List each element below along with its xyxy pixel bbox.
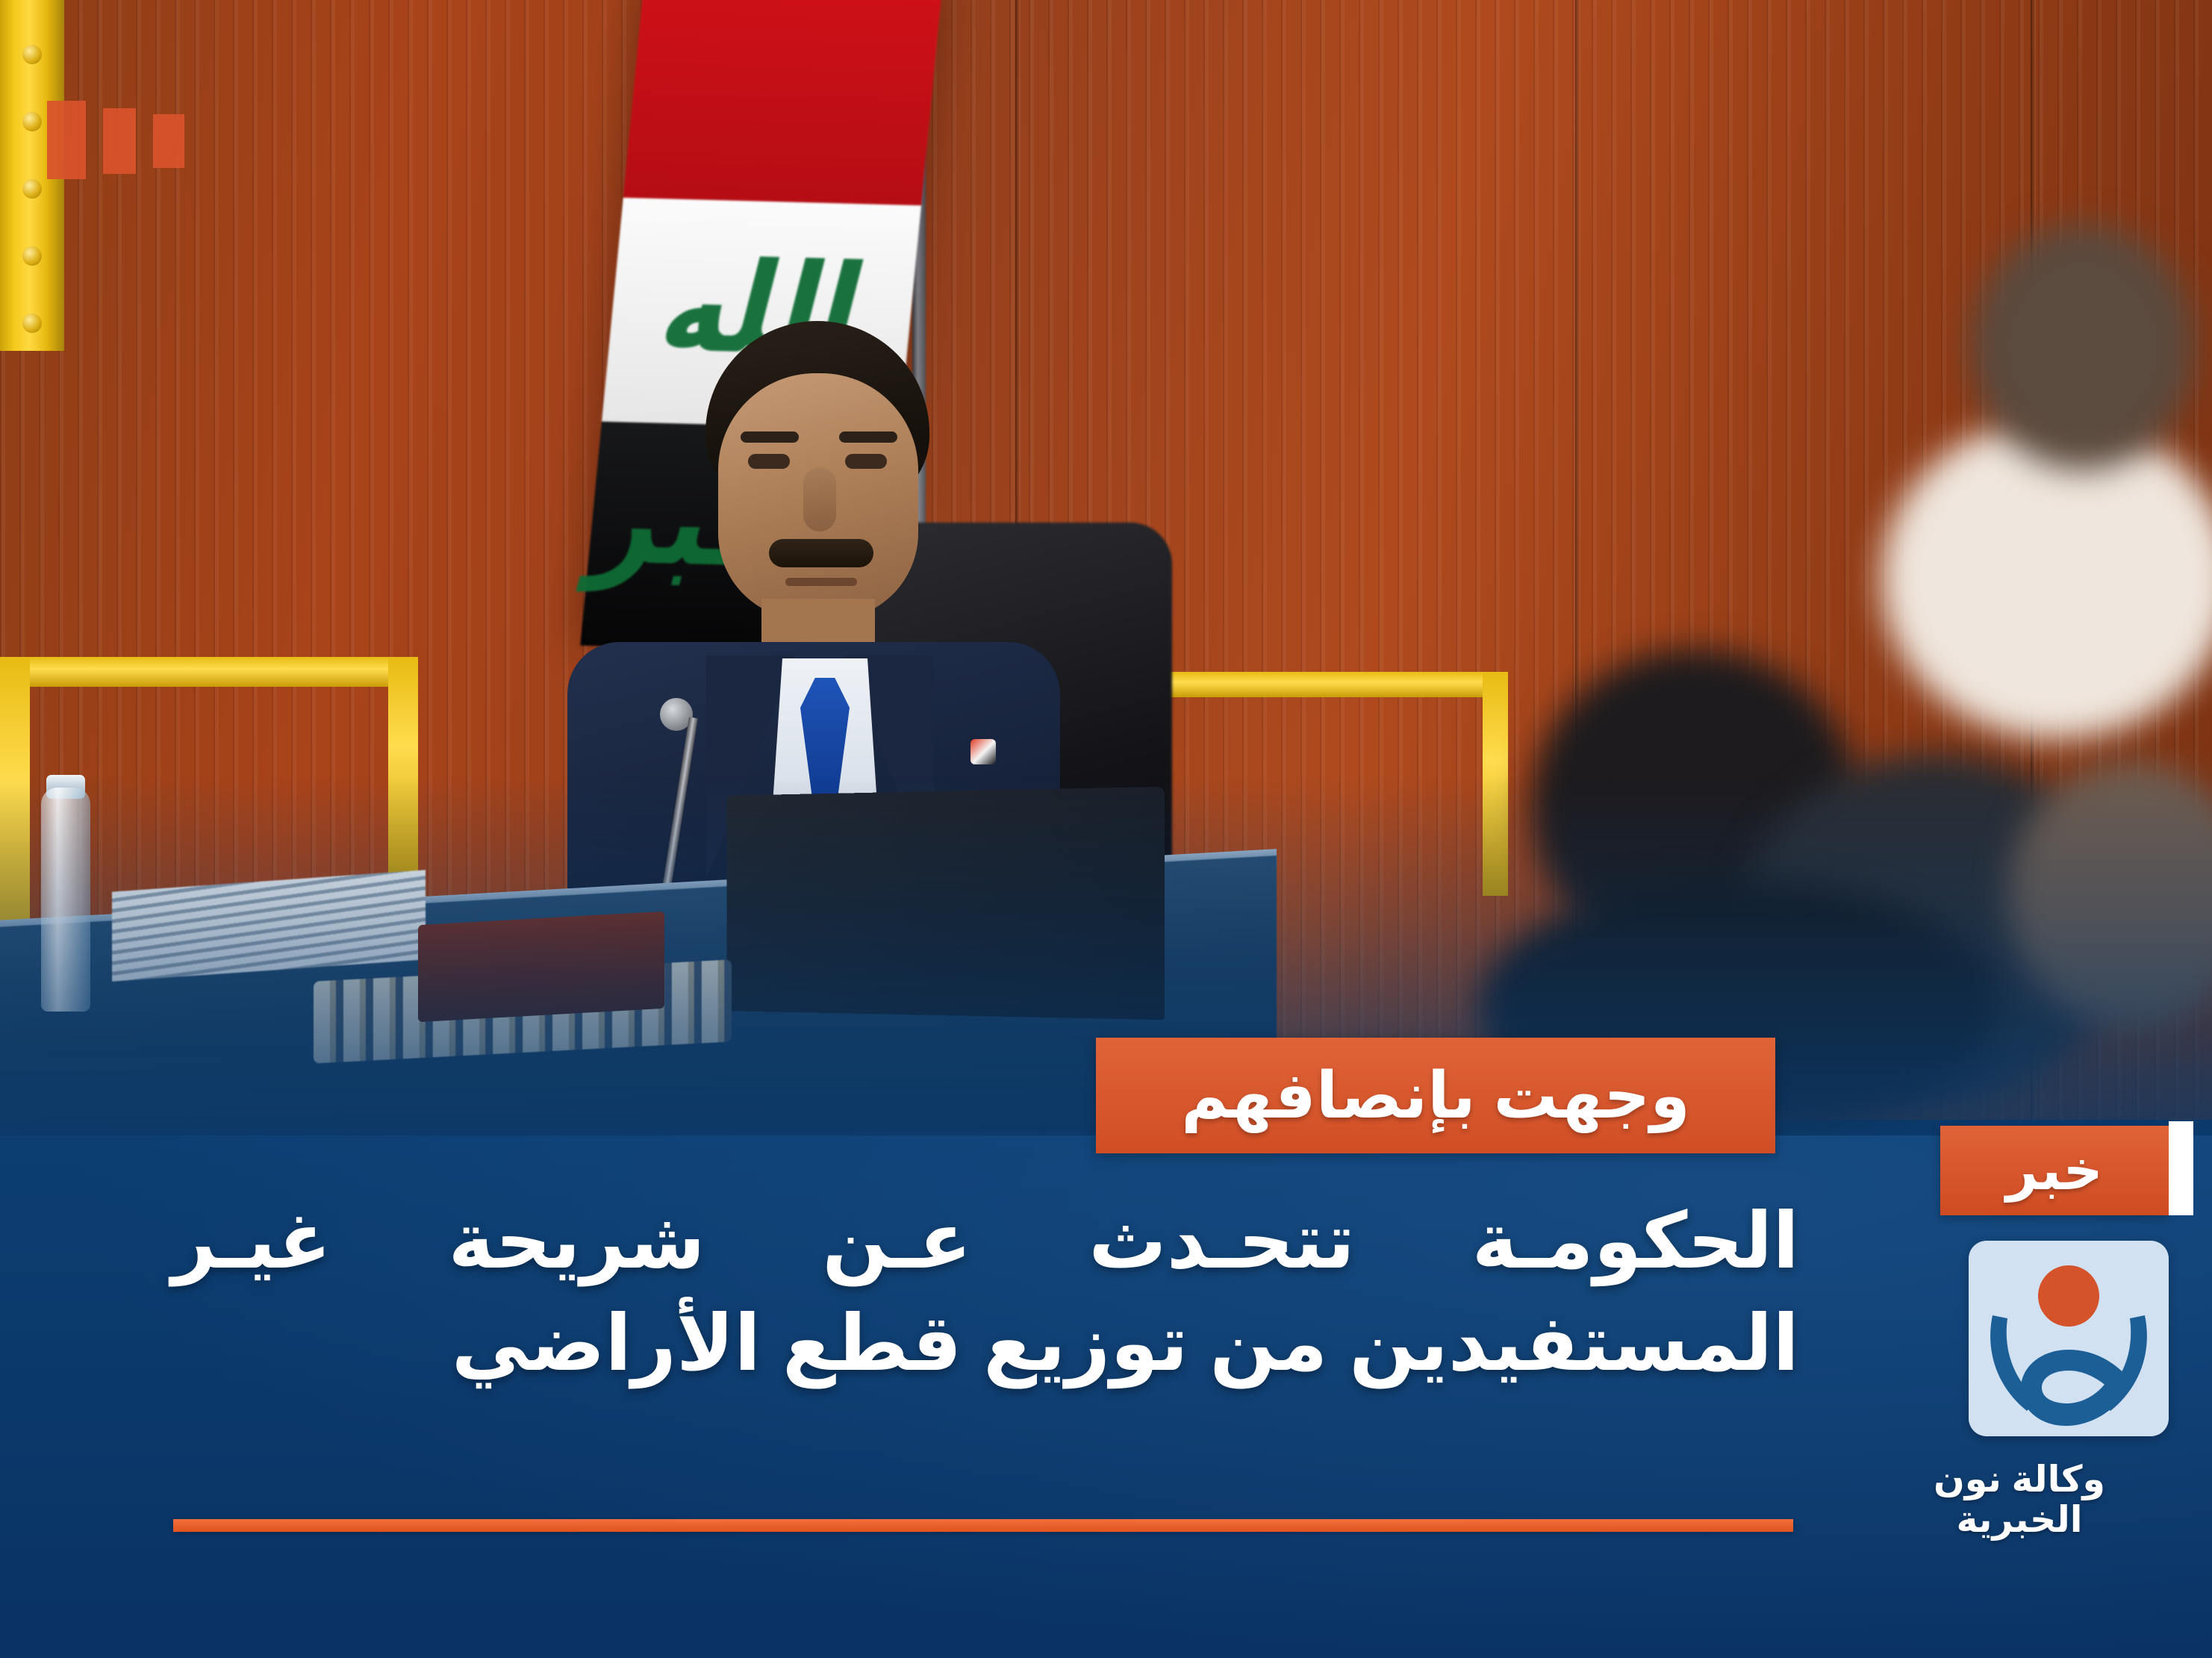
flag-lapel-pin [971,739,996,764]
news-badge-label: خبر [2006,1143,2103,1198]
headline-line-1: الحكومـة تتحـدث عـن شريحة غيـر [172,1191,1799,1293]
headline-underline [173,1519,1793,1532]
kicker-banner: وجهت بإنصافهم [1096,1038,1775,1153]
attendee-silhouette [1881,418,2212,739]
corner-bar-2 [103,108,136,174]
brand-column: خبر وكالة نون الخبرية [1870,1126,2169,1541]
attendee-silhouette [1971,224,2195,470]
corner-bars-watermark [0,0,224,224]
noon-agency-logo [1969,1241,2169,1436]
news-card: الله أكبر [0,0,2212,1658]
corner-bar-1 [47,101,86,179]
corner-bar-3 [153,114,184,168]
news-badge-tab [2169,1121,2193,1215]
news-badge: خبر [1940,1126,2169,1215]
agency-name: وكالة نون الخبرية [1870,1460,2169,1541]
gold-trim [0,657,418,687]
headline-line-2: المستفيدين من توزيع قطع الأراضي [172,1293,1799,1395]
headline-block: الحكومـة تتحـدث عـن شريحة غيـر المستفيدي… [172,1191,1799,1396]
gold-trim [1120,672,1508,697]
kicker-text: وجهت بإنصافهم [1181,1064,1690,1128]
